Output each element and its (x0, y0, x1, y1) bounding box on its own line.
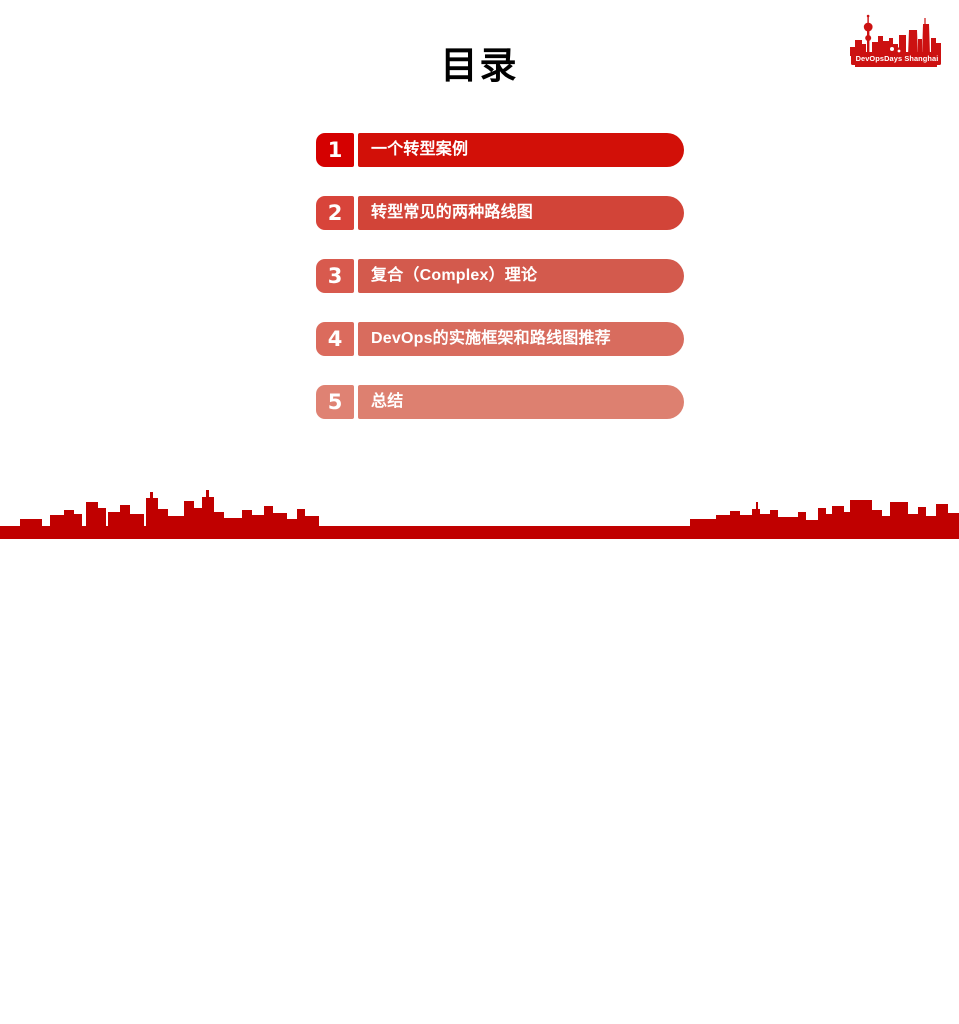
page-title: 目录 (0, 44, 959, 88)
footer-banner: DevOpsDays 2017·上海站 (0, 488, 959, 539)
footer-banner-text: DevOpsDays 2017·上海站 (28, 1007, 313, 1024)
toc-number-badge-3: 3 (316, 259, 354, 293)
toc-number-badge-4: 4 (316, 322, 354, 356)
toc-number-badge-2: 2 (316, 196, 354, 230)
toc-list: 1 一个转型案例 2 转型常见的两种路线图 3 复合（Complex）理论 4 … (316, 133, 684, 419)
toc-bar-5 (358, 385, 684, 419)
toc-item-1[interactable]: 1 一个转型案例 (316, 133, 684, 167)
toc-number-badge-5: 5 (316, 385, 354, 419)
shanghai-skyline-icon (847, 14, 947, 78)
toc-label-2: 转型常见的两种路线图 (371, 196, 533, 230)
toc-label-3: 复合（Complex）理论 (371, 259, 537, 293)
toc-item-3[interactable]: 3 复合（Complex）理论 (316, 259, 684, 293)
toc-label-1: 一个转型案例 (371, 133, 468, 167)
toc-item-2[interactable]: 2 转型常见的两种路线图 (316, 196, 684, 230)
toc-number-badge-1: 1 (316, 133, 354, 167)
slide-canvas: 目录 (0, 0, 959, 539)
toc-label-5: 总结 (371, 385, 403, 419)
devopsdays-shanghai-logo: DevOpsDays Shanghai (847, 14, 947, 78)
toc-item-5[interactable]: 5 总结 (316, 385, 684, 419)
toc-label-4: DevOps的实施框架和路线图推荐 (371, 322, 611, 356)
toc-item-4[interactable]: 4 DevOps的实施框架和路线图推荐 (316, 322, 684, 356)
footer-skyline-icon (0, 488, 959, 539)
